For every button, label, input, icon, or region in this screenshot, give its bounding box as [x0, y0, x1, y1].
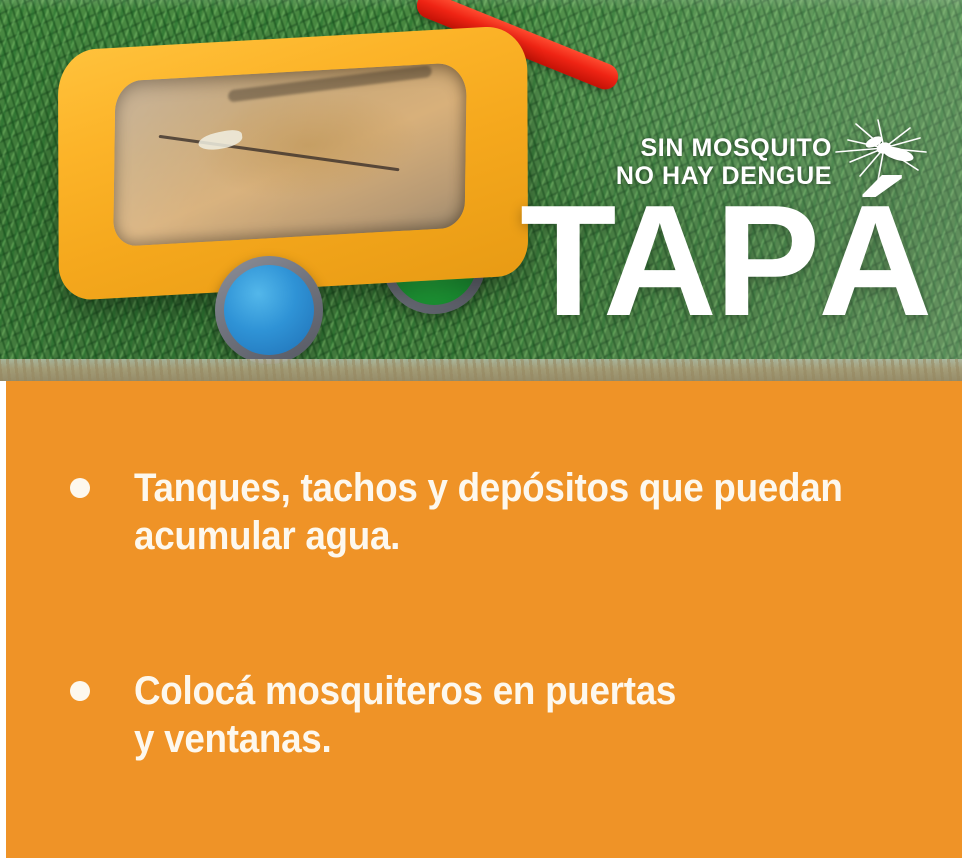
wheel-hub [224, 265, 314, 355]
list-item: Colocá mosquiteros en puertas y ventanas… [70, 667, 723, 763]
toy-wagon-illustration [10, 20, 590, 365]
bullet-text: Tanques, tachos y depósitos que puedan a… [134, 464, 843, 560]
left-white-margin [0, 381, 6, 863]
list-item: Tanques, tachos y depósitos que puedan a… [70, 464, 904, 560]
instructions-panel: Tanques, tachos y depósitos que puedan a… [6, 381, 962, 858]
hero-photo: SIN MOSQUITO NO HAY DENGUE TAPÁ [0, 0, 968, 381]
right-white-margin [962, 0, 968, 863]
bullet-dot-icon [70, 478, 90, 498]
photo-ground-strip [0, 359, 968, 381]
bullet-text: Colocá mosquiteros en puertas y ventanas… [134, 667, 676, 763]
dengue-prevention-poster: SIN MOSQUITO NO HAY DENGUE TAPÁ Tanques,… [0, 0, 968, 863]
bottom-white-margin [0, 858, 968, 863]
wagon-wheel-blue [215, 256, 323, 364]
stagnant-water-basin [113, 62, 467, 247]
bullet-dot-icon [70, 681, 90, 701]
headline-tapa: TAPÁ [520, 182, 930, 340]
photo-top-fade [0, 0, 968, 10]
tagline-line-1: SIN MOSQUITO [502, 134, 832, 162]
